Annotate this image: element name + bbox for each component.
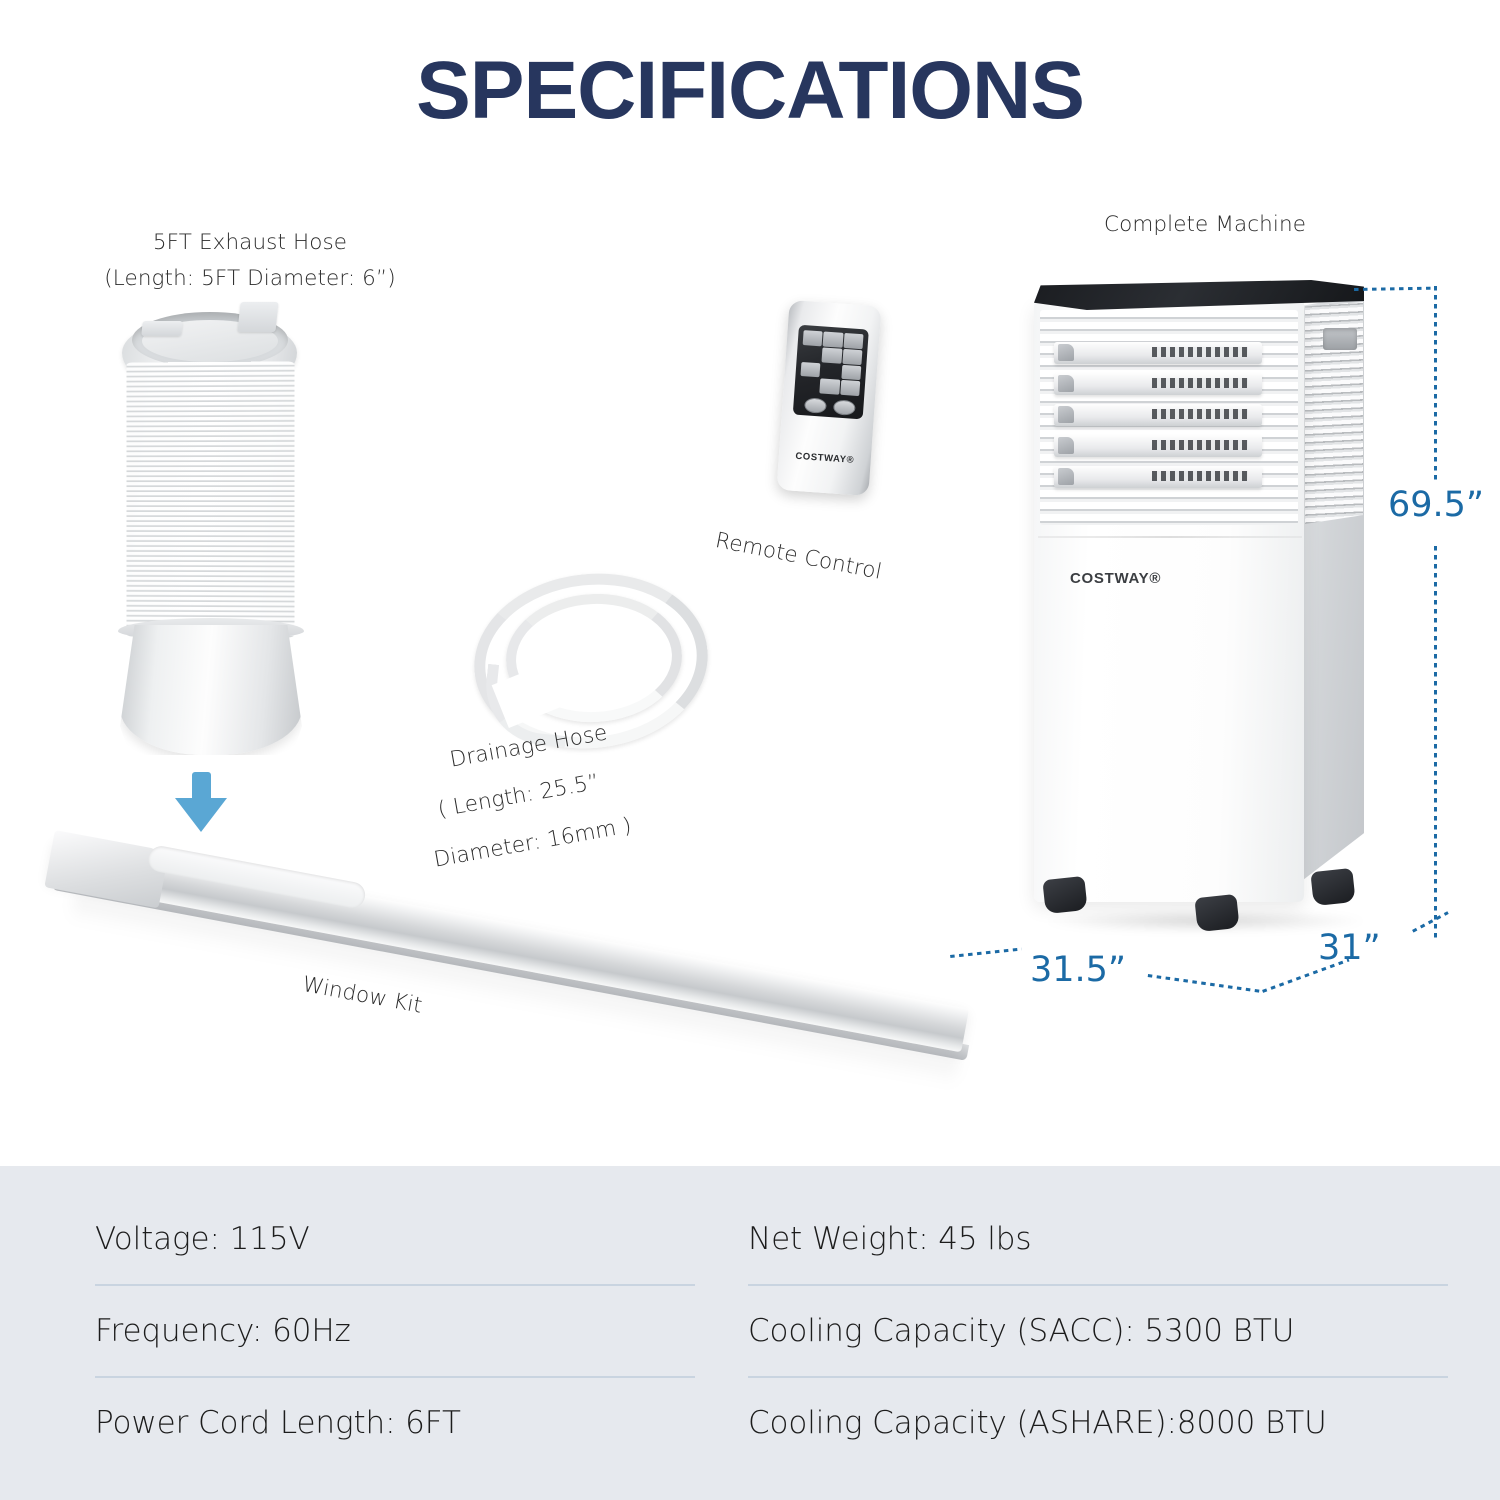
spec-row: Cooling Capacity (ASHARE):8000 BTU [748, 1378, 1448, 1468]
exhaust-hose-detail: (Length: 5FT Diameter: 6”) [40, 266, 460, 291]
ac-louver-slits [1152, 347, 1248, 357]
depth-dimension-line-upper [1412, 911, 1449, 932]
ac-louver [1054, 466, 1262, 488]
hose-tab-left [141, 321, 183, 336]
depth-dimension-label: 31” [1318, 928, 1381, 968]
width-dimension-line-left [950, 947, 1022, 958]
ac-louver-slits [1152, 440, 1248, 450]
window-kit-label: Window Kit [300, 972, 424, 1019]
ac-side-handle [1323, 328, 1357, 350]
drainage-hose-label-line2: ( Length: 25.5” [436, 770, 601, 823]
hose-tab-right [237, 302, 278, 332]
ac-louver-slits [1152, 378, 1248, 388]
ac-louver-slits [1152, 409, 1248, 419]
specification-table: Voltage: 115V Frequency: 60Hz Power Cord… [0, 1166, 1500, 1500]
window-kit-bar [47, 838, 969, 1052]
spec-column-right: Net Weight: 45 lbs Cooling Capacity (SAC… [748, 1194, 1448, 1468]
ac-louver [1054, 435, 1262, 457]
ac-louver-hook [1058, 375, 1074, 392]
remote-button-power [833, 399, 856, 415]
ac-louver-hook [1058, 344, 1074, 361]
spec-power-cord-length: Power Cord Length: 6FT [95, 1405, 461, 1441]
spec-cooling-capacity-sacc: Cooling Capacity (SACC): 5300 BTU [748, 1313, 1294, 1349]
remote-button-high [803, 330, 823, 346]
ac-louver [1054, 404, 1262, 426]
down-arrow-icon [172, 772, 230, 834]
remote-button-spacer-1 [802, 346, 822, 362]
exhaust-hose-label: 5FT Exhaust Hose [40, 230, 460, 255]
hose-adapter [120, 625, 302, 755]
remote-button-panel [793, 325, 869, 420]
remote-button-spacer-2 [821, 363, 841, 379]
spec-row: Power Cord Length: 6FT [95, 1378, 695, 1468]
ac-brand-logo: COSTWAY® [1070, 570, 1161, 587]
spec-frequency: Frequency: 60Hz [95, 1313, 351, 1349]
complete-machine-label: Complete Machine [1010, 212, 1400, 237]
portable-ac-unit-image: COSTWAY® [1020, 280, 1390, 930]
remote-control-image: COSTWAY® [776, 300, 881, 496]
ac-louver-hook [1058, 468, 1074, 485]
ac-louver-group [1054, 342, 1264, 502]
remote-button-grid [799, 330, 863, 396]
spec-row: Voltage: 115V [95, 1194, 695, 1286]
hose-corrugated-body [126, 361, 294, 637]
window-kit-lip [52, 874, 969, 1061]
remote-button-down [822, 347, 842, 363]
drainage-hose-image [462, 560, 712, 745]
ac-louver-slits [1152, 471, 1248, 481]
ac-caster [1310, 868, 1355, 906]
spec-voltage: Voltage: 115V [95, 1221, 310, 1257]
spec-column-left: Voltage: 115V Frequency: 60Hz Power Cord… [95, 1194, 695, 1468]
width-dimension-line-right [1148, 974, 1263, 993]
height-dimension-line-lower [1434, 546, 1437, 938]
exhaust-hose-image [108, 300, 323, 770]
remote-button-cool [843, 333, 863, 349]
drainage-hose-label-line3: Diameter: 16mm ) [432, 813, 633, 872]
window-kit-slot [146, 844, 367, 910]
height-dimension-line-upper [1434, 286, 1437, 482]
page-title: SPECIFICATIONS [0, 44, 1500, 138]
remote-control-label: Remote Control [713, 528, 884, 585]
spec-row: Net Weight: 45 lbs [748, 1194, 1448, 1286]
ac-louver [1054, 342, 1262, 364]
remote-button-unit [840, 380, 860, 396]
remote-button-low [800, 361, 820, 377]
ac-caster [1194, 894, 1239, 932]
ac-louver-hook [1058, 406, 1074, 423]
spec-net-weight: Net Weight: 45 lbs [748, 1221, 1031, 1257]
remote-button-spacer-3 [799, 377, 819, 393]
remote-button-fan [841, 364, 861, 380]
ac-louver-hook [1058, 437, 1074, 454]
remote-button-up [823, 331, 843, 347]
window-kit-image [55, 838, 960, 1048]
height-top-tick [1354, 287, 1436, 291]
infographic-canvas: SPECIFICATIONS 5FT Exhaust Hose (Length:… [0, 0, 1500, 1500]
ac-caster [1042, 876, 1087, 914]
spec-row: Cooling Capacity (SACC): 5300 BTU [748, 1286, 1448, 1378]
height-dimension-label: 69.5” [1388, 485, 1484, 525]
remote-button-sleep [820, 379, 840, 395]
remote-button-timer [804, 397, 827, 413]
window-kit-end-cap [44, 830, 169, 908]
spec-cooling-capacity-ashare: Cooling Capacity (ASHARE):8000 BTU [748, 1405, 1327, 1441]
ac-louver [1054, 373, 1262, 395]
spec-row: Frequency: 60Hz [95, 1286, 695, 1378]
arrow-head [175, 798, 227, 832]
remote-button-dry [842, 349, 862, 365]
width-dimension-label: 31.5” [1030, 950, 1126, 990]
ac-body-seam [1038, 536, 1302, 538]
window-kit-shadow [69, 892, 959, 1087]
